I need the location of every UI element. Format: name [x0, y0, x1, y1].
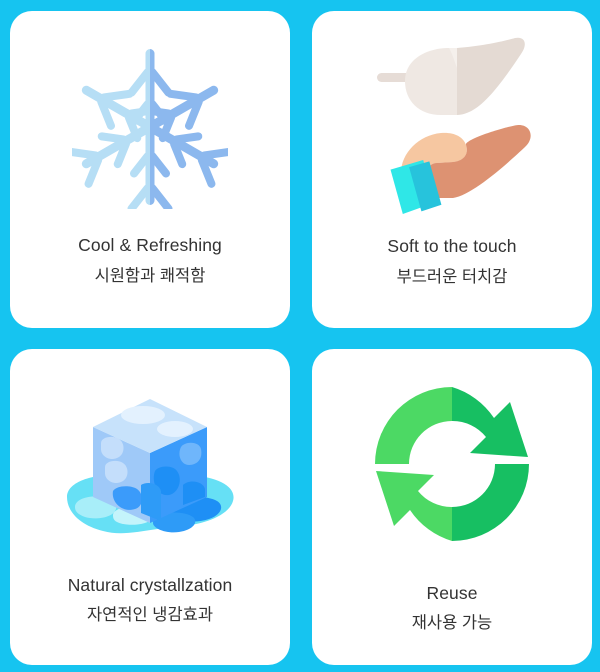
feather-in-hand-icon-wrapper	[365, 36, 540, 216]
feature-card-grid: Cool & Refreshing 시원함과 쾌적함	[0, 0, 600, 672]
card-label-ko: 재사용 가능	[412, 613, 492, 634]
card-label-en: Soft to the touch	[387, 236, 516, 258]
card-label-en: Cool & Refreshing	[78, 235, 222, 257]
recycle-arrows-icon-wrapper	[368, 379, 536, 549]
card-labels: Cool & Refreshing 시원함과 쾌적함	[10, 235, 290, 287]
card-label-ko: 부드러운 터치감	[397, 267, 508, 288]
feature-card-reuse[interactable]: Reuse 재사용 가능	[312, 349, 592, 666]
feature-card-soft-to-the-touch[interactable]: Soft to the touch 부드러운 터치감	[312, 11, 592, 328]
card-label-en: Reuse	[426, 583, 477, 605]
melting-ice-cube-icon	[55, 385, 245, 545]
card-label-en: Natural crystallzation	[68, 575, 233, 597]
feather-in-hand-icon	[365, 35, 540, 217]
card-labels: Natural crystallzation 자연적인 냉감효과	[10, 575, 290, 627]
feature-card-natural-crystallization[interactable]: Natural crystallzation 자연적인 냉감효과	[10, 349, 290, 666]
snowflake-icon	[72, 45, 228, 209]
feature-card-cool-refreshing[interactable]: Cool & Refreshing 시원함과 쾌적함	[10, 11, 290, 328]
melting-ice-cube-icon-wrapper	[55, 385, 245, 545]
recycle-arrows-icon	[368, 379, 536, 549]
card-labels: Soft to the touch 부드러운 터치감	[312, 236, 592, 288]
snowflake-icon-wrapper	[72, 45, 228, 209]
card-label-ko: 시원함과 쾌적함	[95, 266, 206, 287]
card-label-ko: 자연적인 냉감효과	[87, 605, 213, 626]
card-labels: Reuse 재사용 가능	[312, 583, 592, 635]
